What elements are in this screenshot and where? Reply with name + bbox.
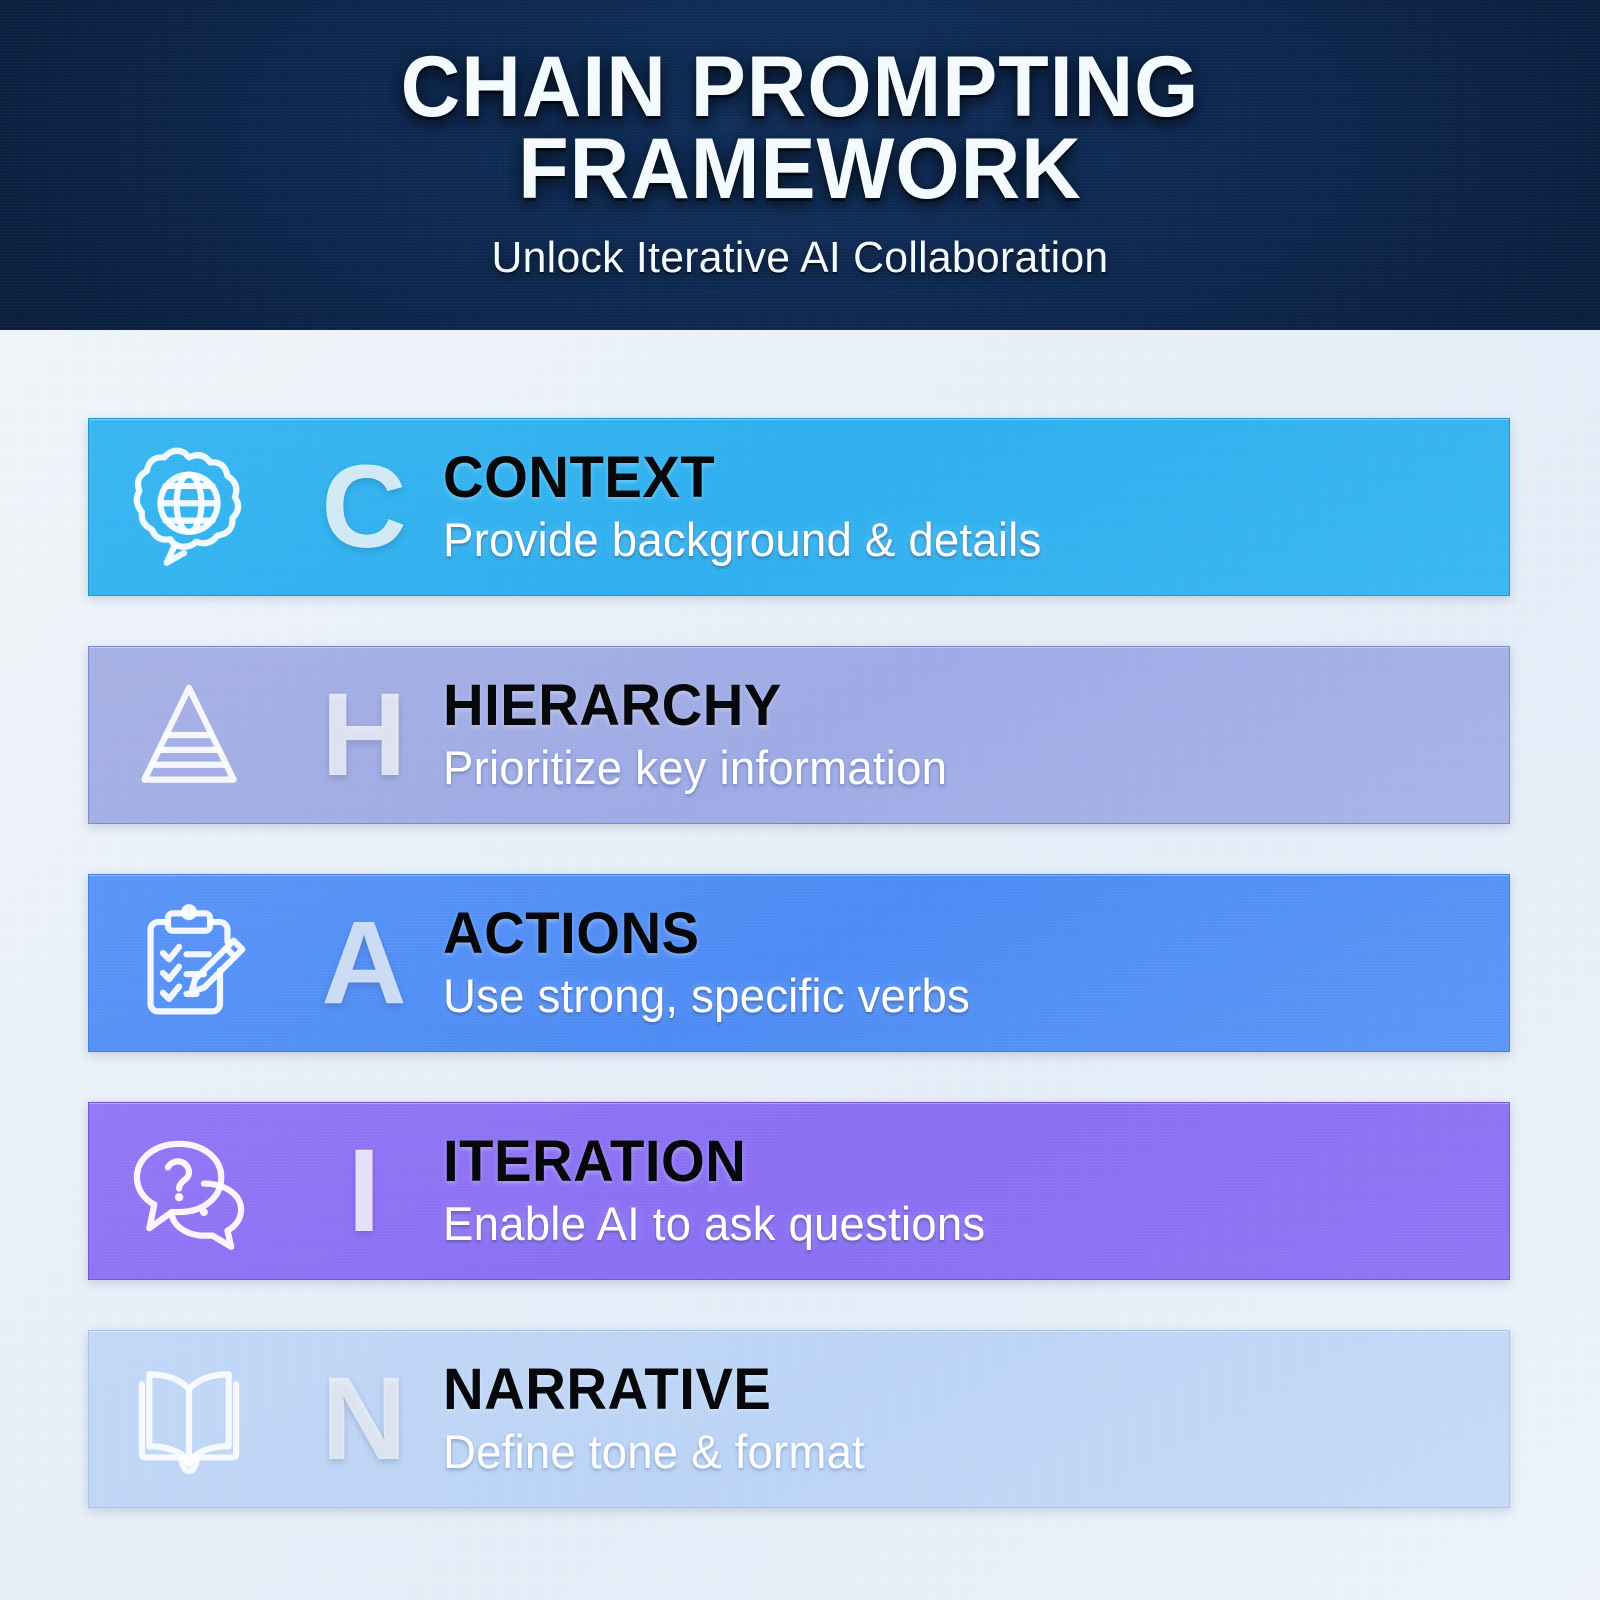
letter-badge-i: I (289, 1132, 439, 1250)
page-title-line-2: FRAMEWORK (401, 129, 1200, 211)
letter-badge-n: N (289, 1360, 439, 1478)
framework-row-actions[interactable]: A ACTIONS Use strong, specific verbs (88, 874, 1510, 1052)
open-book-icon (89, 1357, 289, 1481)
row-title-iteration: ITERATION (443, 1133, 1477, 1191)
row-title-hierarchy: HIERARCHY (443, 677, 1477, 735)
framework-row-text-context: CONTEXT Provide background & details (439, 449, 1509, 564)
row-subtitle-hierarchy: Prioritize key information (443, 743, 1477, 792)
row-title-context: CONTEXT (443, 449, 1477, 507)
framework-row-iteration[interactable]: I ITERATION Enable AI to ask questions (88, 1102, 1510, 1280)
framework-list: C CONTEXT Provide background & details H (0, 330, 1600, 1600)
row-subtitle-actions: Use strong, specific verbs (443, 971, 1477, 1020)
framework-row-text-actions: ACTIONS Use strong, specific verbs (439, 905, 1509, 1020)
pyramid-icon (89, 673, 289, 797)
framework-row-narrative[interactable]: N NARRATIVE Define tone & format (88, 1330, 1510, 1508)
letter-badge-c: C (289, 448, 439, 566)
framework-row-context[interactable]: C CONTEXT Provide background & details (88, 418, 1510, 596)
letter-badge-a: A (289, 904, 439, 1022)
page-title: CHAIN PROMPTING FRAMEWORK (401, 47, 1200, 210)
framework-row-text-narrative: NARRATIVE Define tone & format (439, 1361, 1509, 1476)
framework-row-hierarchy[interactable]: H HIERARCHY Prioritize key information (88, 646, 1510, 824)
globe-speech-bubble-icon (89, 445, 289, 569)
infographic-poster: CHAIN PROMPTING FRAMEWORK Unlock Iterati… (0, 0, 1600, 1600)
row-title-narrative: NARRATIVE (443, 1361, 1477, 1419)
header-banner: CHAIN PROMPTING FRAMEWORK Unlock Iterati… (0, 0, 1600, 330)
framework-row-text-hierarchy: HIERARCHY Prioritize key information (439, 677, 1509, 792)
letter-badge-h: H (289, 676, 439, 794)
page-subtitle: Unlock Iterative AI Collaboration (492, 233, 1109, 283)
framework-row-text-iteration: ITERATION Enable AI to ask questions (439, 1133, 1509, 1248)
row-title-actions: ACTIONS (443, 905, 1477, 963)
clipboard-checklist-pencil-icon (89, 901, 289, 1025)
row-subtitle-context: Provide background & details (443, 515, 1477, 564)
question-speech-bubbles-icon (89, 1129, 289, 1253)
row-subtitle-narrative: Define tone & format (443, 1427, 1477, 1476)
row-subtitle-iteration: Enable AI to ask questions (443, 1199, 1477, 1248)
